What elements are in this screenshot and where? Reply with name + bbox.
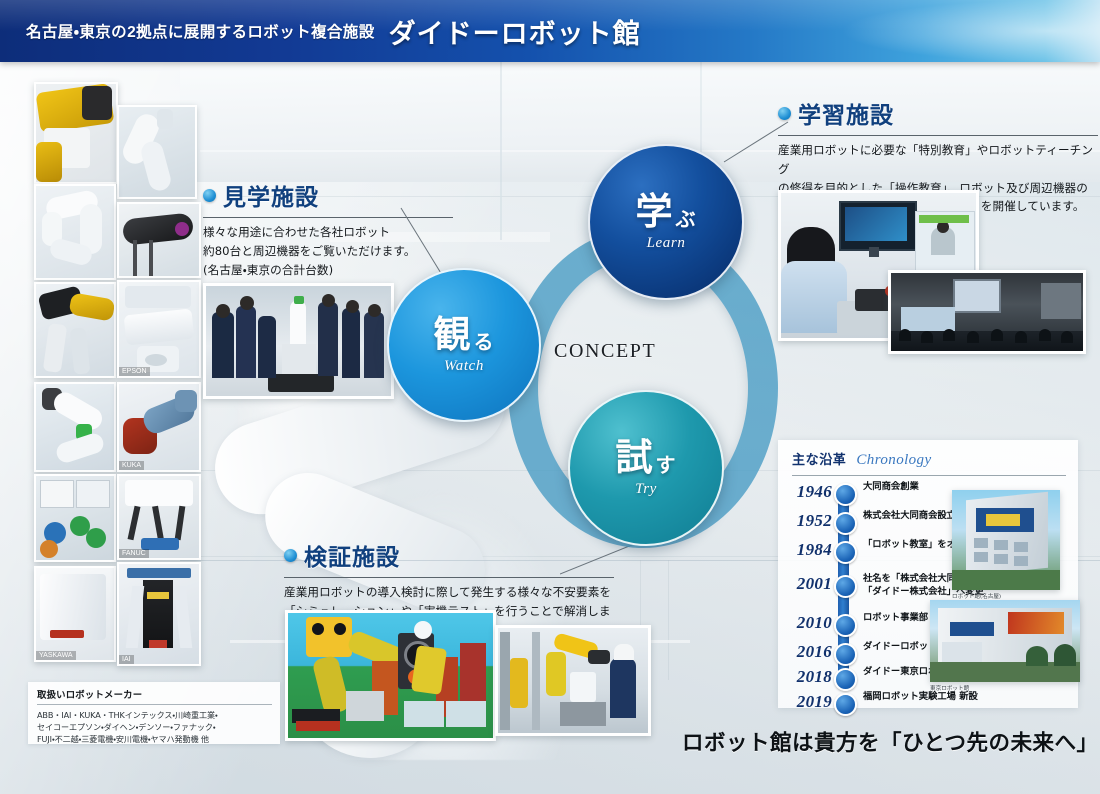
maker-list-line-1: ABB・IAI・KUKA・THKインテックス・川崎重工業・: [37, 709, 272, 721]
photo-label-epson: EPSON: [119, 367, 150, 376]
callout-gakushu-title: 学習施設: [798, 96, 894, 130]
chronology-text: 福岡ロボット実験工場 新設: [863, 690, 1013, 703]
maker-list-line-3: FUJI・不二越・三菱電機・安川電機・ヤマハ発動機 他: [37, 733, 272, 745]
chronology-year: 2016: [784, 642, 832, 662]
chronology-node-icon: [834, 541, 857, 564]
chronology-year: 1952: [784, 511, 832, 531]
chronology-node-icon: [834, 643, 857, 666]
photo-seminar-hall: [888, 270, 1086, 354]
chronology-year: 2018: [784, 667, 832, 687]
page-header: 名古屋・東京の2拠点に展開するロボット複合施設 ダイドーロボット館: [0, 0, 1100, 62]
robot-photo-epson-base: EPSON: [117, 280, 201, 378]
photo-label-yaskawa: YASKAWA: [36, 651, 76, 660]
callout-gakushu-rule: [778, 135, 1098, 136]
photo-label-iai: IAI: [119, 655, 134, 664]
bullet-dot-icon: [778, 107, 791, 120]
callout-gakushu-line-1: 産業用ロボットに必要な「特別教育」やロボットティーチング: [778, 141, 1098, 179]
header-title: ダイドーロボット館: [389, 12, 641, 51]
concept-learn-kana: ぶ: [676, 207, 697, 231]
concept-learn-kanji: 学: [636, 190, 674, 233]
robot-photo-iai-actuator: IAI: [117, 562, 201, 666]
brochure-page: 名古屋・東京の2拠点に展開するロボット複合施設 ダイドーロボット館: [0, 0, 1100, 794]
concept-circle-try[interactable]: 試す Try: [568, 390, 724, 546]
concept-circle-learn[interactable]: 学ぶ Learn: [588, 144, 744, 300]
photo-simulation-3d: [285, 610, 496, 741]
chronology-title-en: Chronology: [856, 452, 931, 469]
robot-photo-delta-fanuc: FANUC: [117, 474, 201, 560]
chronology-title-jp: 主な沿革: [792, 449, 846, 468]
maker-list-box: 取扱いロボットメーカー ABB・IAI・KUKA・THKインテックス・川崎重工業…: [28, 682, 280, 744]
chronology-year: 1946: [784, 482, 832, 502]
chronology-node-icon: [834, 512, 857, 535]
photo-real-machine-test: [495, 625, 651, 736]
concept-diagram: 学ぶ Learn 観る Watch 試す Try CONCEPT: [380, 150, 800, 590]
robot-photo-white-cobot: [117, 105, 197, 199]
concept-watch-kanji: 観: [434, 313, 472, 356]
concept-try-jp: 試す: [616, 439, 677, 476]
concept-try-en: Try: [635, 481, 657, 498]
chronology-node-icon: [834, 483, 857, 506]
robot-photo-yaskawa-panel: YASKAWA: [34, 566, 116, 662]
maker-list-rule: [37, 704, 272, 705]
photo-guided-tour: [203, 283, 394, 399]
chronology-photo-nagoya: [952, 490, 1060, 590]
photo-label-kuka: KUKA: [119, 461, 144, 470]
header-subtitle: 名古屋・東京の2拠点に展開するロボット複合施設: [26, 20, 375, 42]
chronology-node-icon: [834, 575, 857, 598]
concept-learn-en: Learn: [647, 235, 686, 252]
robot-photo-black-scara: [117, 202, 201, 278]
robot-photo-yellow-arm: [34, 282, 116, 378]
robot-photo-green-cobot: [34, 382, 116, 472]
robot-photo-fanuc-yellow: [34, 82, 118, 184]
robot-photo-kuka-orange: KUKA: [117, 382, 201, 472]
page-tagline: ロボット館は貴方を「ひとつ先の未来へ」ご案内します。: [682, 726, 1100, 757]
robot-photo-strip: EPSON KUKA: [22, 82, 212, 692]
chronology-year: 2001: [784, 574, 832, 594]
chronology-node-icon: [834, 614, 857, 637]
bullet-dot-icon: [284, 549, 297, 562]
chronology-photo-tokyo: [930, 600, 1080, 682]
concept-watch-jp: 観る: [434, 316, 495, 353]
chronology-node-icon: [834, 693, 857, 716]
chronology-year: 2019: [784, 692, 832, 712]
concept-learn-jp: 学ぶ: [636, 193, 697, 230]
concept-try-kanji: 試: [616, 436, 654, 479]
robot-photo-parts-bench: [34, 474, 116, 562]
chronology-node-icon: [834, 668, 857, 691]
concept-watch-en: Watch: [444, 358, 484, 375]
chronology-year: 2010: [784, 613, 832, 633]
photo-label-fanuc: FANUC: [119, 549, 149, 558]
chronology-rule: [792, 475, 1066, 476]
callout-kengaku-title: 見学施設: [223, 178, 319, 212]
header-glow: [840, 0, 1100, 62]
bullet-dot-icon: [203, 189, 216, 202]
maker-list-line-2: セイコーエプソン・ダイヘン・デンソー・ファナック・: [37, 721, 272, 733]
chronology-photo-caption-nagoya: ロボット館(名古屋): [952, 592, 1001, 600]
concept-circle-watch[interactable]: 観る Watch: [387, 268, 541, 422]
robot-photo-white-arm: [34, 184, 116, 280]
concept-label: CONCEPT: [554, 340, 674, 363]
concept-watch-kana: る: [474, 330, 495, 354]
chronology-year: 1984: [784, 540, 832, 560]
chronology-photo-caption-tokyo: 東京ロボット館: [930, 684, 969, 692]
maker-list-title: 取扱いロボットメーカー: [37, 687, 272, 701]
concept-try-kana: す: [656, 453, 677, 477]
